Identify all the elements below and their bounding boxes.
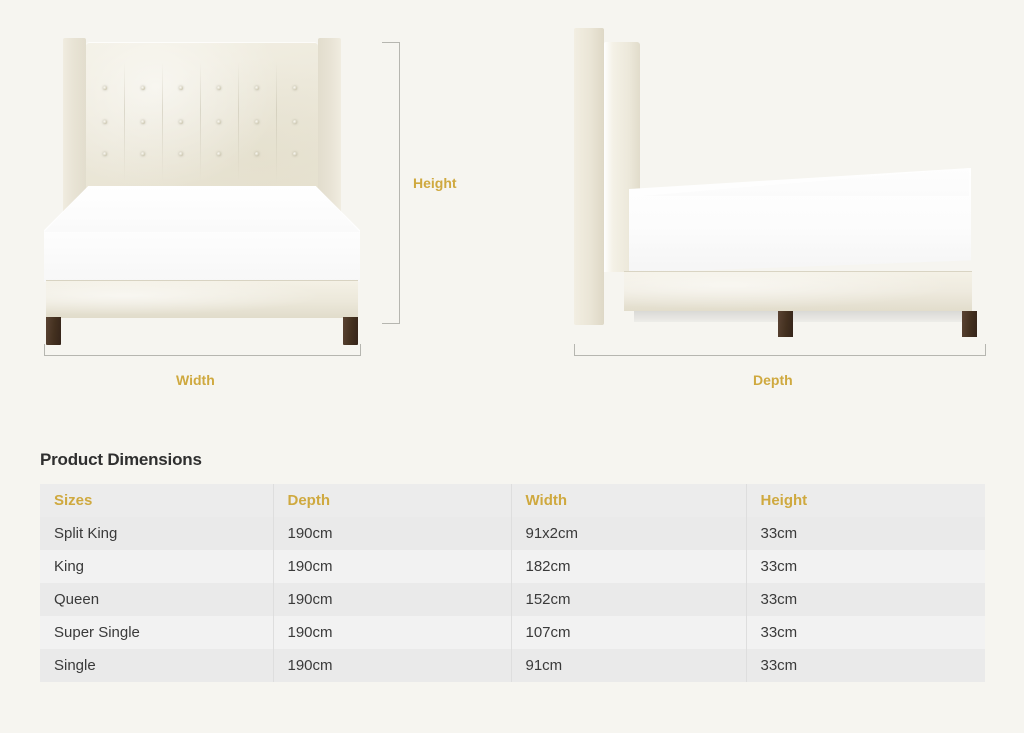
cell-height: 33cm xyxy=(746,583,985,616)
dimension-diagram: Height Width Depth xyxy=(0,0,1024,430)
column-header-depth: Depth xyxy=(273,484,511,517)
cell-width: 182cm xyxy=(511,550,746,583)
column-header-width: Width xyxy=(511,484,746,517)
tuft-button xyxy=(103,86,107,90)
tuft-button xyxy=(255,120,259,124)
column-header-sizes: Sizes xyxy=(40,484,273,517)
tuft-button xyxy=(179,152,183,156)
cell-size: Super Single xyxy=(40,616,273,649)
tuft-button xyxy=(217,152,221,156)
table-row: Single 190cm 91cm 33cm xyxy=(40,649,985,682)
tuft-button xyxy=(293,152,297,156)
table-body: Split King 190cm 91x2cm 33cm King 190cm … xyxy=(40,517,985,682)
side-leg-front xyxy=(778,311,793,337)
width-measure-bracket xyxy=(44,343,361,356)
page-title: Product Dimensions xyxy=(40,450,985,470)
table-header-row: Sizes Depth Width Height xyxy=(40,484,985,517)
product-dimensions-section: Product Dimensions Sizes Depth Width Hei… xyxy=(40,450,985,682)
dimensions-table: Sizes Depth Width Height Split King 190c… xyxy=(40,484,985,682)
cell-size: King xyxy=(40,550,273,583)
front-leg-right xyxy=(343,317,358,345)
table-row: Split King 190cm 91x2cm 33cm xyxy=(40,517,985,550)
tuft-button xyxy=(293,120,297,124)
tuft-button xyxy=(255,86,259,90)
cell-height: 33cm xyxy=(746,550,985,583)
cell-height: 33cm xyxy=(746,616,985,649)
cell-size: Queen xyxy=(40,583,273,616)
front-base-rail xyxy=(46,280,358,318)
cell-depth: 190cm xyxy=(273,583,511,616)
column-header-height: Height xyxy=(746,484,985,517)
cell-width: 152cm xyxy=(511,583,746,616)
cell-width: 91cm xyxy=(511,649,746,682)
tuft-button xyxy=(293,86,297,90)
side-leg-rear xyxy=(962,311,977,337)
front-view-bed-illustration xyxy=(44,30,360,340)
tuft-button xyxy=(217,86,221,90)
cell-height: 33cm xyxy=(746,649,985,682)
tuft-button xyxy=(141,152,145,156)
cell-depth: 190cm xyxy=(273,649,511,682)
tuft-button xyxy=(179,86,183,90)
height-measure-bracket xyxy=(380,42,400,324)
cell-depth: 190cm xyxy=(273,517,511,550)
side-headboard-far-panel xyxy=(574,28,604,325)
table-row: Super Single 190cm 107cm 33cm xyxy=(40,616,985,649)
depth-measure-bracket xyxy=(574,343,986,356)
cell-size: Single xyxy=(40,649,273,682)
width-measure-label: Width xyxy=(176,372,215,388)
cell-size: Split King xyxy=(40,517,273,550)
table-header: Sizes Depth Width Height xyxy=(40,484,985,517)
tuft-button xyxy=(141,86,145,90)
front-leg-left xyxy=(46,317,61,345)
tuft-button xyxy=(103,120,107,124)
tuft-button xyxy=(141,120,145,124)
cell-width: 91x2cm xyxy=(511,517,746,550)
tuft-button xyxy=(217,120,221,124)
side-view-bed-illustration xyxy=(574,28,985,338)
cell-depth: 190cm xyxy=(273,616,511,649)
front-mattress-top-surface xyxy=(44,186,360,232)
depth-measure-label: Depth xyxy=(753,372,793,388)
cell-depth: 190cm xyxy=(273,550,511,583)
cell-width: 107cm xyxy=(511,616,746,649)
table-row: King 190cm 182cm 33cm xyxy=(40,550,985,583)
table-row: Queen 190cm 152cm 33cm xyxy=(40,583,985,616)
height-measure-label: Height xyxy=(413,175,457,191)
cell-height: 33cm xyxy=(746,517,985,550)
side-base-rail xyxy=(624,271,972,311)
tuft-button xyxy=(255,152,259,156)
tuft-button xyxy=(103,152,107,156)
tuft-button xyxy=(179,120,183,124)
